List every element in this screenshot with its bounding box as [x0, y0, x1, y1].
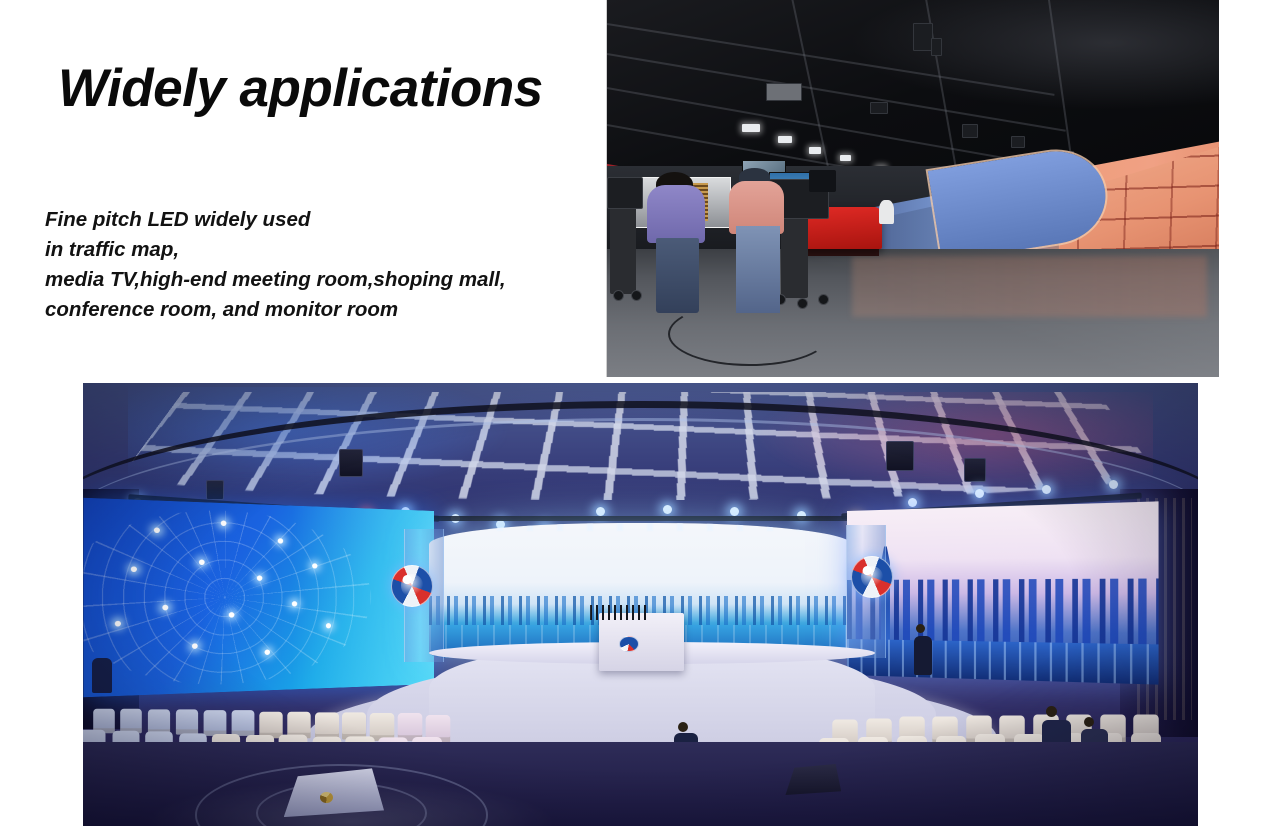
camera-operator-jeans — [736, 226, 780, 313]
ceiling-rigging-fixture — [931, 38, 942, 56]
hanging-line-array-speaker — [886, 441, 914, 471]
ceiling-spotlight — [663, 505, 672, 514]
podium — [599, 613, 684, 671]
studio-light — [778, 136, 792, 143]
attendee-standing — [92, 658, 112, 693]
audience-chair — [259, 711, 282, 738]
tv-studio-photo — [606, 0, 1219, 377]
ceiling-spotlight — [730, 507, 739, 516]
camera-operator-purple-shirt — [647, 185, 705, 243]
ceiling-spotlight — [596, 507, 605, 516]
studio-light — [809, 147, 821, 154]
camera-operator-jeans — [656, 238, 699, 313]
studio-floor-cable — [668, 302, 831, 366]
studio-camera — [607, 177, 643, 209]
ceiling-rigging-fixture — [870, 102, 888, 114]
audience-chair — [232, 710, 255, 736]
description-line-2: in traffic map, — [45, 235, 506, 265]
ceiling-rigging-fixture — [913, 23, 933, 51]
podium-emblem — [619, 636, 639, 652]
center-screen-top-light-row — [437, 523, 844, 532]
audience-chair — [121, 708, 143, 732]
audience-chair — [315, 712, 339, 739]
globe-emblem-left — [391, 565, 433, 607]
studio-light — [742, 124, 760, 132]
ceiling-light-panel — [766, 83, 802, 101]
globe-emblem-right — [851, 556, 893, 598]
audience-chair — [176, 709, 198, 734]
hanging-line-array-speaker — [206, 480, 224, 500]
hanging-line-array-speaker — [339, 449, 363, 477]
studio-floor-reflection — [852, 256, 1207, 316]
pedestal-wheel — [797, 298, 808, 309]
description-line-1: Fine pitch LED widely used — [45, 205, 506, 235]
description-line-3: media TV,high-end meeting room,shoping m… — [45, 265, 506, 295]
studio-camera-viewfinder-hood — [809, 170, 837, 193]
studio-news-anchor — [879, 200, 894, 225]
camera-pedestal — [781, 215, 808, 298]
audience-chair — [204, 710, 227, 736]
page-title: Widely applications — [58, 58, 543, 119]
attendee-standing — [914, 636, 932, 676]
hanging-line-array-speaker — [964, 458, 986, 482]
description-text: Fine pitch LED widely used in traffic ma… — [45, 205, 506, 325]
description-line-4: conference room, and monitor room — [45, 295, 506, 325]
right-screen-cityscape — [847, 579, 1158, 645]
right-led-screen — [847, 502, 1158, 685]
left-led-screen — [84, 498, 434, 697]
conference-hall-photo — [83, 383, 1198, 826]
ceiling-spotlight — [1042, 485, 1051, 494]
podium-microphones — [590, 605, 646, 620]
slide-canvas: Widely applications Fine pitch LED widel… — [0, 0, 1280, 826]
lighting-truss-bar — [429, 516, 853, 521]
camera-pedestal — [610, 196, 636, 294]
